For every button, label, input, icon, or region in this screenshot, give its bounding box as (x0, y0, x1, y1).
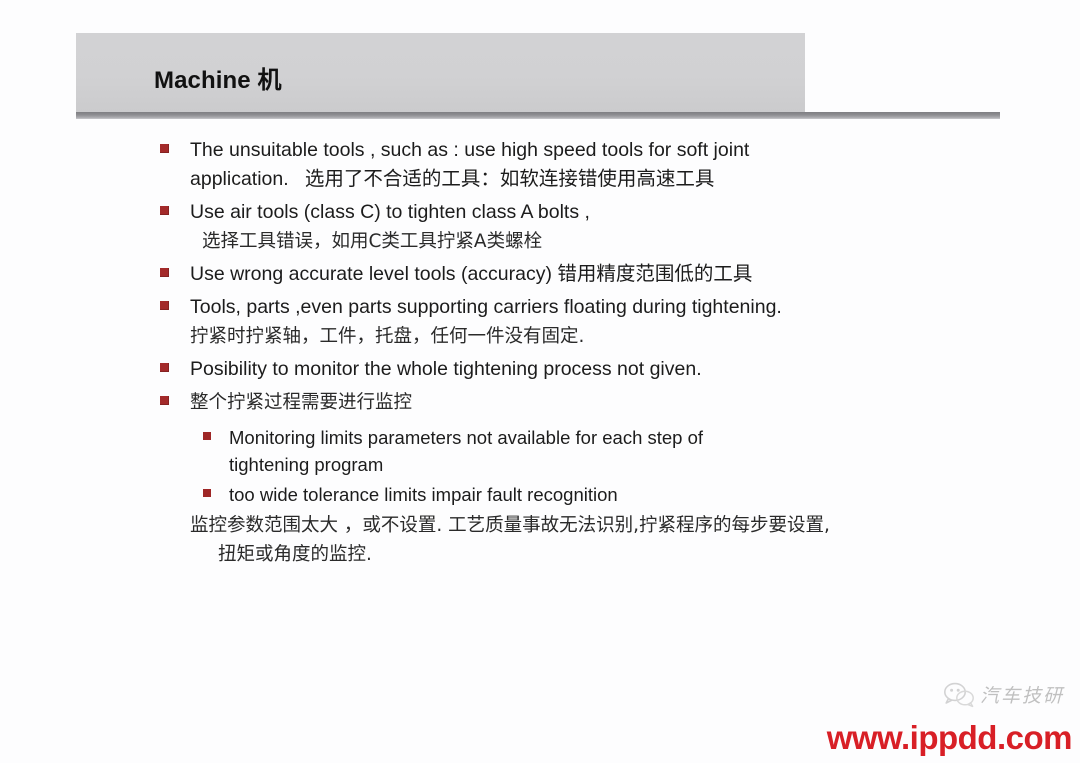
closing-note: 监控参数范围太大 ，或不设置. 工艺质量事故无法识别,拧紧程序的每步要设置, 扭… (0, 511, 1080, 569)
watermark-brand-text: 汽车技研 (980, 681, 1064, 708)
closing-note-line: 扭矩或角度的监控. (190, 540, 1040, 569)
bullet-line: 拧紧时拧紧轴，工件，托盘，任何一件没有固定. (190, 322, 1020, 351)
square-bullet-icon (203, 432, 211, 440)
slide-body: The unsuitable tools , such as : use hig… (0, 136, 1080, 569)
watermark-url: www.ippdd.com (827, 719, 1072, 757)
bullet-item: Posibility to monitor the whole tighteni… (0, 355, 1080, 384)
sub-bullet-line: Monitoring limits parameters not availab… (229, 424, 1020, 451)
closing-note-line: 监控参数范围太大 ，或不设置. 工艺质量事故无法识别,拧紧程序的每步要设置, (190, 511, 1040, 540)
bullet-item: Tools, parts ,even parts supporting carr… (0, 293, 1080, 351)
sub-bullet-item: Monitoring limits parameters not availab… (0, 424, 1080, 478)
sub-bullet-line: tightening program (229, 451, 1020, 478)
bullet-item: Use wrong accurate level tools (accuracy… (0, 260, 1080, 289)
title-underline-rule (76, 112, 1000, 119)
bullet-line: Tools, parts ,even parts supporting carr… (190, 293, 1020, 322)
bullet-item: Use air tools (class C) to tighten class… (0, 198, 1080, 256)
square-bullet-icon (160, 144, 169, 153)
bullet-line: 整个拧紧过程需要进行监控 (190, 388, 1020, 417)
square-bullet-icon (160, 363, 169, 372)
watermark-brand: 汽车技研 (944, 681, 1064, 708)
bullet-line: Use air tools (class C) to tighten class… (190, 198, 1020, 227)
page-title: Machine 机 (154, 60, 282, 95)
watermark: 汽车技研 www.ippdd.com (794, 681, 1074, 759)
bullet-item: The unsuitable tools , such as : use hig… (0, 136, 1080, 194)
bullet-line: Posibility to monitor the whole tighteni… (190, 355, 1020, 384)
bullet-line: 选择工具错误，如用C类工具拧紧A类螺栓 (190, 227, 1020, 256)
bullet-line: The unsuitable tools , such as : use hig… (190, 136, 1020, 165)
square-bullet-icon (160, 268, 169, 277)
bullet-line: Use wrong accurate level tools (accuracy… (190, 260, 1020, 289)
sub-bullet-item: too wide tolerance limits impair fault r… (0, 481, 1080, 508)
square-bullet-icon (160, 206, 169, 215)
square-bullet-icon (203, 489, 211, 497)
title-banner: Machine 机 (76, 33, 805, 112)
bullet-line: application. 选用了不合适的工具：如软连接错使用高速工具 (190, 165, 1020, 194)
sub-bullet-line: too wide tolerance limits impair fault r… (229, 481, 1020, 508)
wechat-icon (944, 682, 974, 708)
bullet-item: 整个拧紧过程需要进行监控 (0, 388, 1080, 417)
square-bullet-icon (160, 396, 169, 405)
square-bullet-icon (160, 301, 169, 310)
